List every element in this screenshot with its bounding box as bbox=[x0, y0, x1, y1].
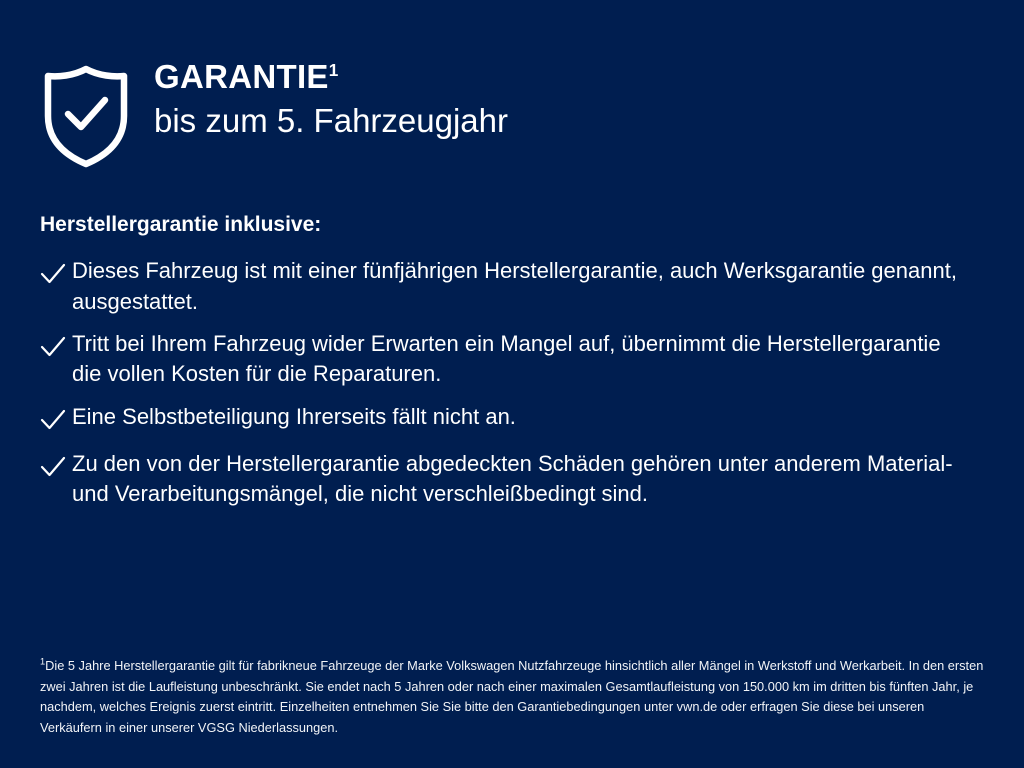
content-body: Herstellergarantie inklusive: Dieses Fah… bbox=[40, 212, 984, 509]
list-item-label: Tritt bei Ihrem Fahrzeug wider Erwarten … bbox=[72, 329, 972, 390]
header: GARANTIE1 bis zum 5. Fahrzeugjahr bbox=[40, 58, 508, 168]
list-item: Zu den von der Herstellergarantie abgede… bbox=[40, 449, 984, 510]
page-title: GARANTIE1 bbox=[154, 60, 508, 95]
list-item-label: Zu den von der Herstellergarantie abgede… bbox=[72, 449, 972, 510]
check-icon bbox=[40, 261, 72, 291]
garantie-panel: GARANTIE1 bis zum 5. Fahrzeugjahr Herste… bbox=[0, 0, 1024, 768]
benefits-list: Dieses Fahrzeug ist mit einer fünfjährig… bbox=[40, 256, 984, 509]
footnote: 1Die 5 Jahre Herstellergarantie gilt für… bbox=[40, 656, 984, 739]
list-item: Dieses Fahrzeug ist mit einer fünfjährig… bbox=[40, 256, 984, 317]
check-icon bbox=[40, 454, 72, 484]
list-item: Tritt bei Ihrem Fahrzeug wider Erwarten … bbox=[40, 329, 984, 390]
header-text: GARANTIE1 bis zum 5. Fahrzeugjahr bbox=[154, 58, 508, 141]
page-title-footnote-marker: 1 bbox=[329, 60, 339, 80]
shield-check-icon bbox=[40, 64, 132, 168]
list-item-label: Eine Selbstbeteiligung Ihrerseits fällt … bbox=[72, 402, 516, 432]
check-icon bbox=[40, 407, 72, 437]
list-item-label: Dieses Fahrzeug ist mit einer fünfjährig… bbox=[72, 256, 972, 317]
footnote-text: Die 5 Jahre Herstellergarantie gilt für … bbox=[40, 658, 983, 735]
check-icon bbox=[40, 334, 72, 364]
page-title-text: GARANTIE bbox=[154, 58, 329, 95]
intro-heading: Herstellergarantie inklusive: bbox=[40, 212, 984, 238]
page-subtitle: bis zum 5. Fahrzeugjahr bbox=[154, 101, 508, 141]
list-item: Eine Selbstbeteiligung Ihrerseits fällt … bbox=[40, 402, 984, 437]
